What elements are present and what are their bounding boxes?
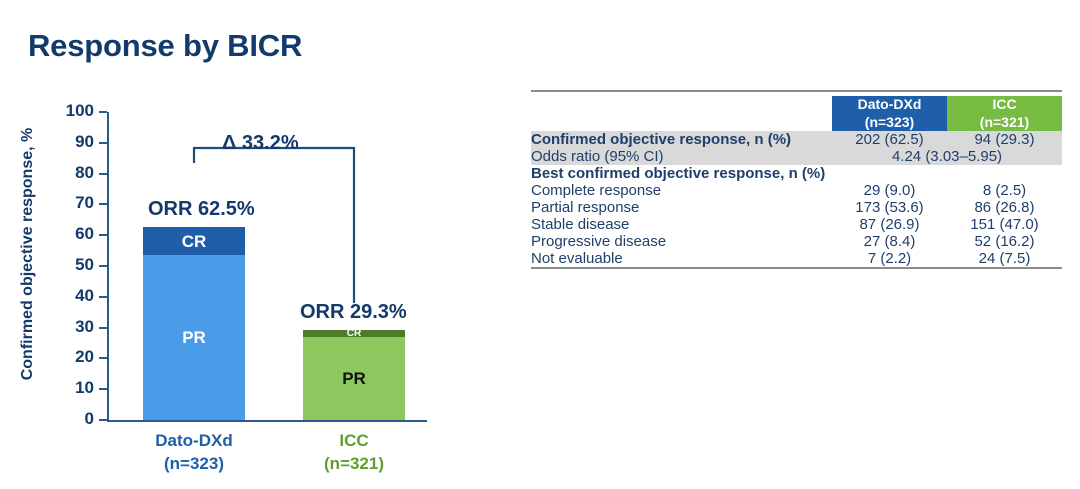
table-row: Progressive disease27 (8.4)52 (16.2) (531, 233, 1062, 250)
table-row-value-dato: 202 (62.5) (832, 131, 947, 148)
table-row-value-span: 4.24 (3.03–5.95) (832, 148, 1062, 165)
table-header-dato-dxd-n: (n=323) (832, 114, 947, 132)
x-axis-label-dato-dxd-n: (n=323) (109, 453, 279, 476)
x-axis-label-icc: ICC (n=321) (269, 430, 439, 476)
table-row-value-icc: 86 (26.8) (947, 199, 1062, 216)
table-header-icc: ICC(n=321) (947, 96, 1062, 131)
table-row-label: Complete response (531, 182, 832, 199)
response-summary-table: Dato-DXd(n=323)ICC(n=321)Confirmed objec… (531, 90, 1062, 273)
table-row-value-icc: 52 (16.2) (947, 233, 1062, 250)
y-tick-mark (99, 357, 107, 359)
table-bottom-rule (531, 268, 1062, 273)
response-table: Dato-DXd(n=323)ICC(n=321)Confirmed objec… (531, 90, 1062, 273)
bar-icc[interactable]: CR PR (303, 330, 405, 420)
y-tick-mark (99, 388, 107, 390)
x-axis-label-icc-n: (n=321) (269, 453, 439, 476)
bar-segment-label-cr-dato: CR (182, 233, 207, 250)
x-axis-label-dato-dxd: Dato-DXd (n=323) (109, 430, 279, 476)
table-row-value-dato: 87 (26.9) (832, 216, 947, 233)
slide-canvas: Response by BICR Confirmed objective res… (0, 0, 1080, 489)
y-tick-mark (99, 419, 107, 421)
table-row-value-icc: 151 (47.0) (947, 216, 1062, 233)
table-row-value-dato: 7 (2.2) (832, 250, 947, 268)
table-row: Not evaluable7 (2.2)24 (7.5) (531, 250, 1062, 268)
table-row: Partial response173 (53.6)86 (26.8) (531, 199, 1062, 216)
bar-segment-pr-icc: PR (303, 337, 405, 420)
bar-segment-label-pr-icc: PR (342, 370, 366, 387)
y-tick-mark (99, 142, 107, 144)
table-row-label: Odds ratio (95% CI) (531, 148, 832, 165)
bar-segment-cr-icc: CR (303, 330, 405, 338)
table-header-dato-dxd-name: Dato-DXd (832, 96, 947, 114)
table-row-value-icc: 8 (2.5) (947, 182, 1062, 199)
response-bar-chart: Confirmed objective response, % 10090807… (0, 95, 470, 489)
y-tick-mark (99, 234, 107, 236)
bar-dato-dxd[interactable]: CR PR (143, 227, 245, 420)
table-row: Complete response29 (9.0)8 (2.5) (531, 182, 1062, 199)
table-header-row: Dato-DXd(n=323)ICC(n=321) (531, 96, 1062, 131)
table-row-label: Partial response (531, 199, 832, 216)
delta-label: Δ 33.2% (222, 132, 299, 155)
bar-segment-cr-dato: CR (143, 227, 245, 255)
orr-label-icc: ORR 29.3% (300, 301, 407, 324)
table-row-label: Progressive disease (531, 233, 832, 250)
table-header-dato-dxd: Dato-DXd(n=323) (832, 96, 947, 131)
table-row-label: Stable disease (531, 216, 832, 233)
table-row-value-dato: 27 (8.4) (832, 233, 947, 250)
table-row-label: Best confirmed objective response, n (%) (531, 165, 832, 182)
y-tick-mark (99, 173, 107, 175)
table-row: Best confirmed objective response, n (%) (531, 165, 1062, 182)
table-row-value-icc: 24 (7.5) (947, 250, 1062, 268)
orr-label-dato: ORR 62.5% (148, 198, 255, 221)
y-tick-mark (99, 296, 107, 298)
table-bottom-rule-cell (531, 268, 1062, 273)
table-row-value-dato (832, 165, 947, 182)
table-header-blank (531, 96, 832, 131)
x-axis-label-icc-name: ICC (269, 430, 439, 453)
page-title: Response by BICR (28, 28, 302, 64)
table-row-value-dato: 29 (9.0) (832, 182, 947, 199)
bar-segment-pr-dato: PR (143, 255, 245, 420)
table-row-label: Not evaluable (531, 250, 832, 268)
table-row-value-icc: 94 (29.3) (947, 131, 1062, 148)
table-row: Odds ratio (95% CI)4.24 (3.03–5.95) (531, 148, 1062, 165)
table-header-icc-n: (n=321) (947, 114, 1062, 132)
bar-segment-label-pr-dato: PR (182, 329, 206, 346)
table-row-label: Confirmed objective response, n (%) (531, 131, 832, 148)
table-row-value-icc (947, 165, 1062, 182)
y-tick-mark (99, 111, 107, 113)
y-tick-mark (99, 327, 107, 329)
y-tick-mark (99, 203, 107, 205)
table-row: Stable disease87 (26.9)151 (47.0) (531, 216, 1062, 233)
table-row-value-dato: 173 (53.6) (832, 199, 947, 216)
table-row: Confirmed objective response, n (%)202 (… (531, 131, 1062, 148)
y-tick-mark (99, 265, 107, 267)
table-header-icc-name: ICC (947, 96, 1062, 114)
x-axis-label-dato-dxd-name: Dato-DXd (109, 430, 279, 453)
